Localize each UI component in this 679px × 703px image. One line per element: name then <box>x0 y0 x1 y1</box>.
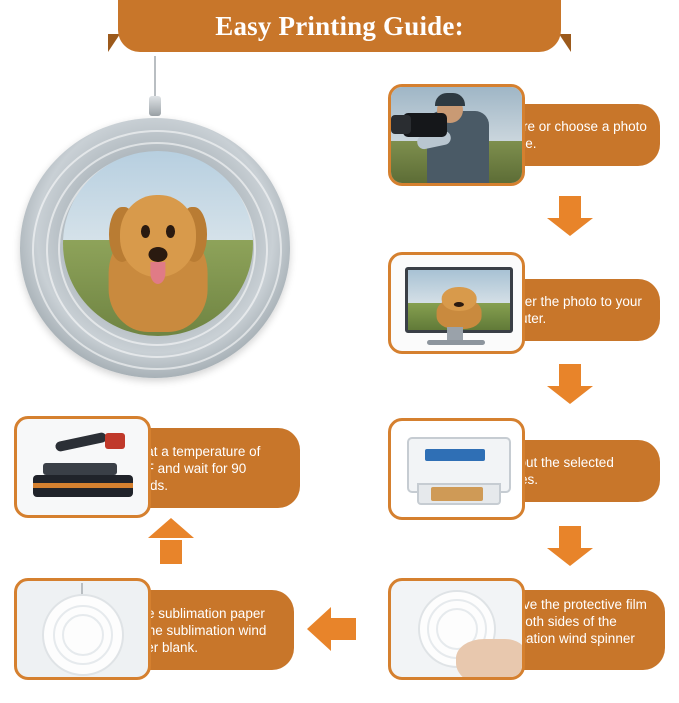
page-title-banner: Easy Printing Guide: <box>118 0 561 52</box>
step-capture-image <box>388 84 525 186</box>
step-remove-film-image <box>388 578 525 680</box>
banner-tail-right <box>559 34 571 52</box>
step-transfer-image <box>388 252 525 354</box>
spinner-dog-photo <box>63 151 253 336</box>
spinner-hook-icon <box>148 56 162 118</box>
step-heat-image <box>14 416 151 518</box>
hero-wind-spinner <box>8 56 308 386</box>
step-print-image <box>388 418 525 520</box>
step-fix-paper-image <box>14 578 151 680</box>
page-title: Easy Printing Guide: <box>215 11 464 42</box>
